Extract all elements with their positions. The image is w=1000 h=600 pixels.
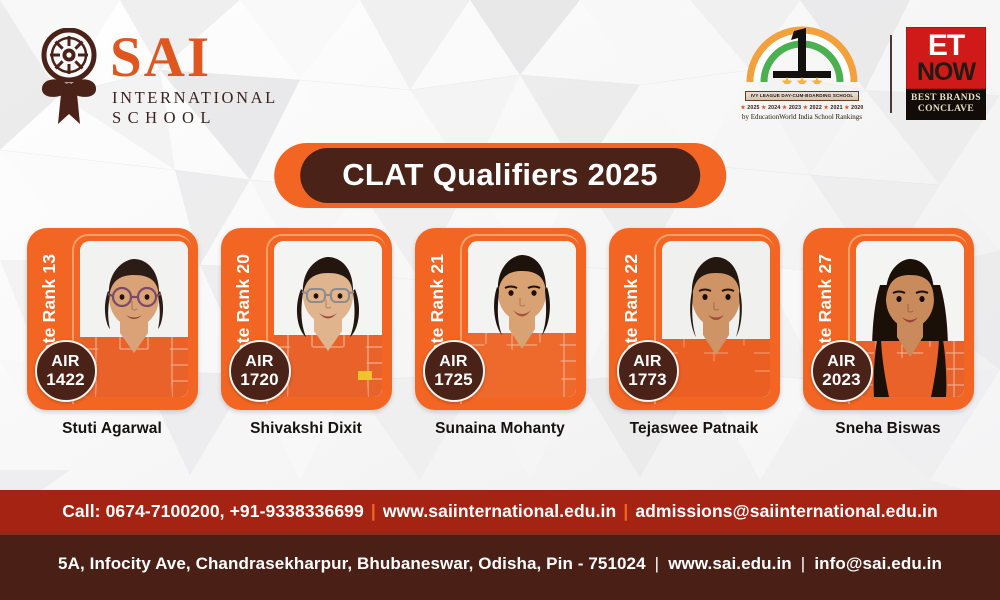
footer-address-separator-1: | xyxy=(646,554,669,573)
air-label: AIR xyxy=(439,354,467,370)
air-value: 1773 xyxy=(628,371,667,389)
student-card-frame: State Rank 21 xyxy=(415,228,586,410)
logo-subtitle-school: SCHOOL xyxy=(110,110,278,127)
student-card-frame: State Rank 27 xyxy=(803,228,974,410)
air-value: 1725 xyxy=(434,371,473,389)
et-now-tagline-line1: BEST BRANDS xyxy=(909,93,983,104)
title-outer-pill: CLAT Qualifiers 2025 xyxy=(274,143,726,208)
et-now-award-badge: ET NOW BEST BRANDS CONCLAVE xyxy=(906,27,986,119)
student-card-4: State Rank 27 xyxy=(798,228,978,438)
student-name: Shivakshi Dixit xyxy=(250,420,362,438)
student-name: Sunaina Mohanty xyxy=(435,420,565,438)
air-rank-badge: AIR 2023 xyxy=(811,340,873,402)
footer-address-bar: 5A, Infocity Ave, Chandrasekharpur, Bhub… xyxy=(0,532,1000,600)
footer-address: 5A, Infocity Ave, Chandrasekharpur, Bhub… xyxy=(58,554,646,573)
student-name: Tejaswee Patnaik xyxy=(630,420,759,438)
footer-contact-bar: Call: 0674-7100200, +91-9338336699|www.s… xyxy=(0,490,1000,532)
footer-separator-1: | xyxy=(364,501,383,521)
ivy-caption: IVY LEAGUE DAY-CUM-BOARDING SCHOOL xyxy=(745,91,860,101)
footer-address-website[interactable]: www.sai.edu.in xyxy=(668,554,792,573)
title-inner-pill: CLAT Qualifiers 2025 xyxy=(300,148,700,203)
title-banner: CLAT Qualifiers 2025 xyxy=(274,143,726,208)
ivy-source: by EducationWorld India School Rankings xyxy=(728,113,876,121)
air-label: AIR xyxy=(633,354,661,370)
air-label: AIR xyxy=(245,354,273,370)
chakra-ribbon-emblem-icon xyxy=(38,28,100,128)
footer-address-text: 5A, Infocity Ave, Chandrasekharpur, Bhub… xyxy=(58,554,942,582)
air-label: AIR xyxy=(51,354,79,370)
et-now-line2: NOW xyxy=(911,61,981,85)
logo-subtitle-international: INTERNATIONAL xyxy=(110,90,278,107)
student-cards-row: State Rank 13 xyxy=(0,228,1000,438)
awards-divider xyxy=(890,35,892,113)
footer-contact-text: Call: 0674-7100200, +91-9338336699|www.s… xyxy=(62,501,938,522)
student-card-0: State Rank 13 xyxy=(22,228,202,438)
air-label: AIR xyxy=(827,354,855,370)
et-now-line1: ET xyxy=(911,32,981,60)
student-card-1: State Rank 20 xyxy=(216,228,396,438)
et-now-tagline: BEST BRANDS CONCLAVE xyxy=(906,89,986,120)
air-value: 1720 xyxy=(240,371,279,389)
page-title: CLAT Qualifiers 2025 xyxy=(342,159,658,190)
student-card-frame: State Rank 22 xyxy=(609,228,780,410)
poster-header: SAI INTERNATIONAL SCHOOL xyxy=(0,0,1000,150)
awards-group: IVY LEAGUE DAY-CUM-BOARDING SCHOOL ★ 202… xyxy=(728,26,986,121)
footer-website[interactable]: www.saiinternational.edu.in xyxy=(383,501,616,521)
air-rank-badge: AIR 1773 xyxy=(617,340,679,402)
footer-address-email[interactable]: info@sai.edu.in xyxy=(814,554,942,573)
student-card-frame: State Rank 20 xyxy=(221,228,392,410)
poster-root: SAI INTERNATIONAL SCHOOL xyxy=(0,0,1000,600)
school-logo: SAI INTERNATIONAL SCHOOL xyxy=(38,28,278,128)
ivy-league-award-badge: IVY LEAGUE DAY-CUM-BOARDING SCHOOL ★ 202… xyxy=(728,26,876,121)
et-now-tagline-line2: CONCLAVE xyxy=(909,104,983,115)
et-now-logo: ET NOW xyxy=(906,27,986,88)
footer-separator-2: | xyxy=(616,501,635,521)
ivy-years: ★ 2025 ★ 2024 ★ 2023 ★ 2022 ★ 2021 ★ 202… xyxy=(728,105,876,111)
air-value: 2023 xyxy=(822,371,861,389)
student-name: Stuti Agarwal xyxy=(62,420,162,438)
trophy-tricolour-arc-icon xyxy=(728,26,876,84)
air-rank-badge: AIR 1720 xyxy=(229,340,291,402)
air-rank-badge: AIR 1725 xyxy=(423,340,485,402)
student-card-2: State Rank 21 xyxy=(410,228,590,438)
footer-address-separator-2: | xyxy=(792,554,815,573)
air-value: 1422 xyxy=(46,371,85,389)
footer-email[interactable]: admissions@saiinternational.edu.in xyxy=(635,501,937,521)
student-card-3: State Rank 22 xyxy=(604,228,784,438)
student-card-frame: State Rank 13 xyxy=(27,228,198,410)
logo-title: SAI xyxy=(110,31,278,85)
student-name: Sneha Biswas xyxy=(835,420,940,438)
air-rank-badge: AIR 1422 xyxy=(35,340,97,402)
footer-phone: Call: 0674-7100200, +91-9338336699 xyxy=(62,501,364,521)
